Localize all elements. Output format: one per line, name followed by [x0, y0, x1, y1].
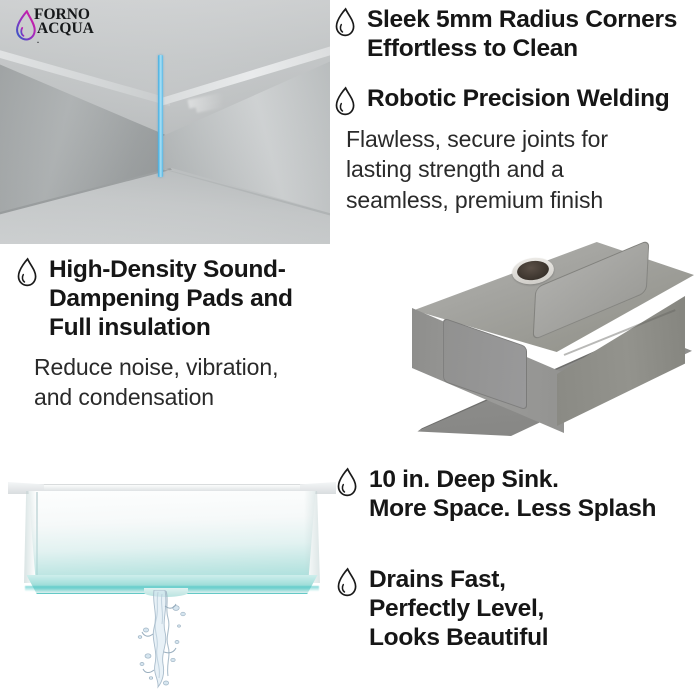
brand-logo: FORNO ACQUA.: [14, 8, 94, 44]
brand-name-line2: ACQUA.: [37, 22, 94, 44]
sink-underside-illustration: [352, 236, 700, 440]
feature-deep-sink: 10 in. Deep Sink. More Space. Less Splas…: [334, 466, 696, 524]
water-droplet-icon: [334, 467, 360, 497]
feature-title: High-Density Sound- Dampening Pads and F…: [49, 256, 293, 343]
water-droplet-icon: [332, 86, 358, 116]
feature-title: 10 in. Deep Sink. More Space. Less Splas…: [369, 466, 656, 524]
image-sink-underside: [352, 236, 700, 440]
feature-robotic-welding: Robotic Precision Welding Flawless, secu…: [332, 85, 698, 215]
sink-basin-wall-left: [24, 491, 36, 583]
feature-heading-row: 10 in. Deep Sink. More Space. Less Splas…: [334, 466, 696, 524]
water-stream-icon: [132, 590, 204, 690]
sink-basin-body: [24, 491, 320, 583]
feature-heading-row: Drains Fast, Perfectly Level, Looks Beau…: [334, 566, 694, 653]
feature-heading-row: Robotic Precision Welding: [332, 85, 698, 116]
feature-radius-corners: Sleek 5mm Radius Corners Effortless to C…: [332, 6, 696, 64]
feature-title: Drains Fast, Perfectly Level, Looks Beau…: [369, 566, 548, 653]
registered-mark: .: [37, 37, 94, 44]
feature-title: Sleek 5mm Radius Corners Effortless to C…: [367, 6, 677, 64]
image-sink-water-drain: [4, 458, 340, 696]
water-droplet-icon: [334, 567, 360, 597]
sink-cutaway-illustration: [4, 458, 340, 696]
water-droplet-icon: [332, 7, 358, 37]
feature-body: Reduce noise, vibration, and condensatio…: [34, 352, 332, 413]
sink-basin-inner-seam: [36, 492, 38, 582]
feature-heading-row: High-Density Sound- Dampening Pads and F…: [14, 256, 332, 343]
brand-wordmark: FORNO ACQUA.: [34, 8, 94, 44]
feature-title: Robotic Precision Welding: [367, 85, 669, 114]
feature-sound-dampening: High-Density Sound- Dampening Pads and F…: [14, 256, 332, 412]
water-droplet-icon: [14, 257, 40, 287]
feature-drains-fast: Drains Fast, Perfectly Level, Looks Beau…: [334, 566, 694, 653]
feature-heading-row: Sleek 5mm Radius Corners Effortless to C…: [332, 6, 696, 64]
welded-corner-seam-highlight: [158, 55, 163, 177]
feature-body: Flawless, secure joints for lasting stre…: [346, 124, 698, 215]
sink-basin-wall-right: [304, 491, 320, 583]
